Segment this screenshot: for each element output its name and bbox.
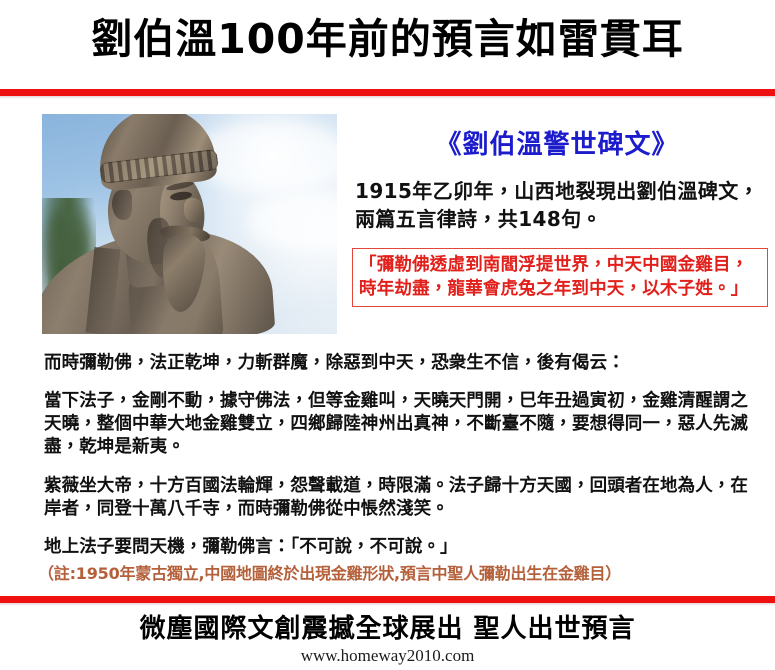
statue-nose: [184, 198, 204, 222]
footer-website-url: www.homeway2010.com: [0, 645, 775, 666]
body-paragraph: 紫薇坐大帝，十方百國法輪輝，怨聲載道，時限滿。法子歸十方天國，回頭者在地為人，在…: [44, 475, 756, 521]
footer-headline: 微塵國際文創震撼全球展出 聖人出世預言: [0, 612, 775, 646]
page-title: 劉伯溫100年前的預言如雷貫耳: [0, 14, 775, 64]
body-paragraph: 當下法子，金剛不動，據守佛法，但等金雞叫，天曉天門開，巳年丑過寅初，金雞清醒謂之…: [44, 390, 756, 459]
section-heading: 《劉伯溫警世碑文》: [352, 128, 762, 162]
intro-paragraph: 1915年乙卯年，山西地裂現出劉伯溫碑文，兩篇五言律詩，共148句。: [355, 177, 767, 233]
poster-root: 劉伯溫100年前的預言如雷貫耳 《劉伯溫警世碑文》 1915年乙卯年，山西地裂現…: [0, 0, 775, 670]
liu-bowen-statue-photo: [42, 114, 337, 334]
body-paragraph: 地上法子要問天機，彌勒佛言：「不可說，不可說。」: [44, 536, 756, 559]
divider-shadow-top: [0, 96, 775, 99]
body-text-block: 而時彌勒佛，法正乾坤，力斬群魔，除惡到中天，恐衆生不信，後有偈云： 當下法子，金…: [44, 352, 756, 559]
footnote-text: （註:1950年蒙古獨立,中國地圖終於出現金雞形狀,預言中聖人彌勒出生在金雞目）: [38, 563, 743, 585]
divider-red-bottom: [0, 596, 775, 603]
divider-shadow-bottom: [0, 603, 775, 606]
prophecy-quote-box: 「彌勒佛透虛到南閻浮提世界，中天中國金雞目，時年劫盡，龍華會虎兔之年到中天，以木…: [352, 248, 768, 307]
divider-red-top: [0, 89, 775, 96]
body-paragraph: 而時彌勒佛，法正乾坤，力斬群魔，除惡到中天，恐衆生不信，後有偈云：: [44, 352, 756, 375]
statue-ear: [112, 190, 132, 220]
